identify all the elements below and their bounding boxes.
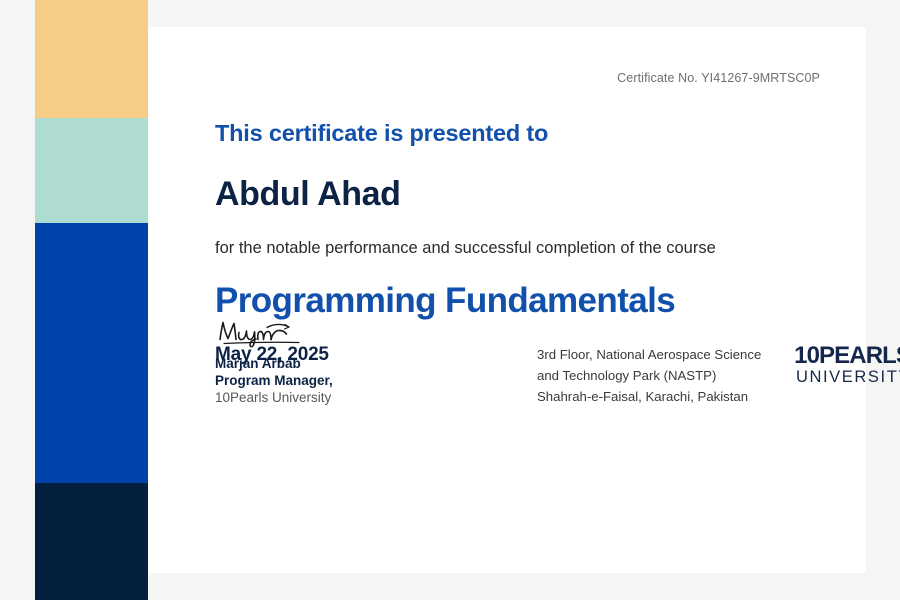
address-line: Shahrah-e-Faisal, Karachi, Pakistan [537,386,777,407]
band-mint [35,118,148,223]
signature-icon [215,317,310,349]
address-line: 3rd Floor, National Aerospace Science [537,344,777,365]
address-block: 3rd Floor, National Aerospace Science an… [537,344,777,407]
band-orange [35,0,148,118]
certificate-number: Certificate No. YI41267-9MRTSC0P [617,71,820,85]
completion-statement: for the notable performance and successf… [215,240,835,257]
signatory-block: Marjan Arbab Program Manager, 10Pearls U… [215,317,395,406]
decorative-color-bar [35,0,148,600]
presented-to-heading: This certificate is presented to [215,122,835,146]
course-title: Programming Fundamentals [215,283,835,318]
brand-logo: 10PEARLS UNIVERSITY [791,339,900,401]
certificate-page: Certificate No. YI41267-9MRTSC0P This ce… [0,0,900,600]
signatory-organization: 10Pearls University [215,389,395,406]
logo-wordmark: 10PEARLS UNIVERSITY [791,343,900,387]
logo-name: 10PEARLS [791,343,900,368]
band-blue [35,223,148,483]
signatory-role: Program Manager, [215,372,395,389]
logo-subtitle: UNIVERSITY [791,368,900,387]
recipient-name: Abdul Ahad [215,177,835,211]
certificate-footer: Marjan Arbab Program Manager, 10Pearls U… [215,317,855,427]
signatory-name: Marjan Arbab [215,355,395,372]
band-navy [35,483,148,600]
certificate-card: Certificate No. YI41267-9MRTSC0P This ce… [148,27,866,573]
address-line: and Technology Park (NASTP) [537,365,777,386]
